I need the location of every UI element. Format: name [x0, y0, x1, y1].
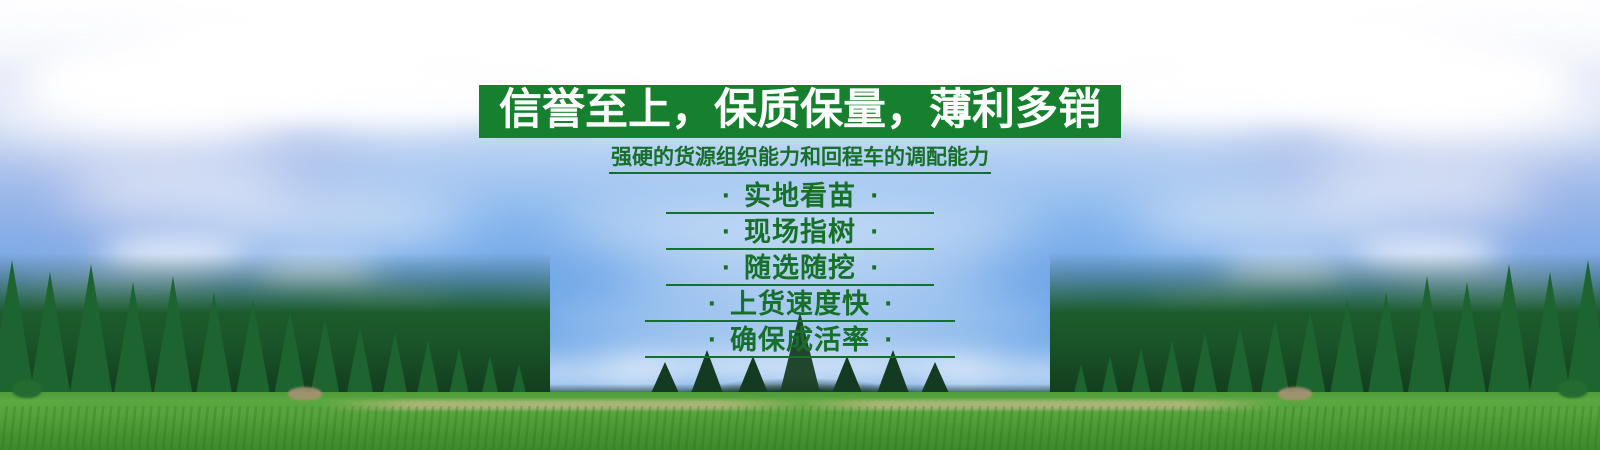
feature-label: 随选随挖 — [744, 254, 856, 284]
bullet-dot-icon: · — [708, 294, 716, 316]
bullet-dot-icon: · — [870, 186, 878, 208]
promo-banner: 信誉至上，保质保量，薄利多销 强硬的货源组织能力和回程车的调配能力 · 实地看苗… — [0, 0, 1600, 450]
feature-underline — [645, 320, 955, 322]
feature-underline — [666, 212, 934, 214]
bullet-dot-icon: · — [870, 258, 878, 280]
bullet-dot-icon: · — [884, 294, 892, 316]
title-banner-bar: 信誉至上，保质保量，薄利多销 — [479, 85, 1121, 138]
feature-label: 确保成活率 — [730, 326, 870, 356]
feature-underline — [666, 284, 934, 286]
feature-underline — [666, 248, 934, 250]
list-item: · 现场指树 · — [590, 215, 1010, 251]
feature-label: 现场指树 — [744, 218, 856, 248]
banner-content: 信誉至上，保质保量，薄利多销 强硬的货源组织能力和回程车的调配能力 · 实地看苗… — [0, 0, 1600, 450]
feature-label: 实地看苗 — [744, 182, 856, 212]
feature-underline — [645, 356, 955, 358]
bullet-dot-icon: · — [722, 186, 730, 208]
page-title: 信誉至上，保质保量，薄利多销 — [499, 88, 1101, 132]
list-item: · 随选随挖 · — [590, 251, 1010, 287]
list-item: · 实地看苗 · — [590, 179, 1010, 215]
bullet-dot-icon: · — [722, 258, 730, 280]
subtitle: 强硬的货源组织能力和回程车的调配能力 — [609, 145, 991, 174]
bullet-dot-icon: · — [870, 222, 878, 244]
bullet-dot-icon: · — [708, 330, 716, 352]
list-item: · 确保成活率 · — [590, 323, 1010, 359]
feature-list: · 实地看苗 · · 现场指树 · · 随选随挖 · · 上货速度快 · — [590, 179, 1010, 359]
bullet-dot-icon: · — [722, 222, 730, 244]
list-item: · 上货速度快 · — [590, 287, 1010, 323]
feature-label: 上货速度快 — [730, 290, 870, 320]
bullet-dot-icon: · — [884, 330, 892, 352]
